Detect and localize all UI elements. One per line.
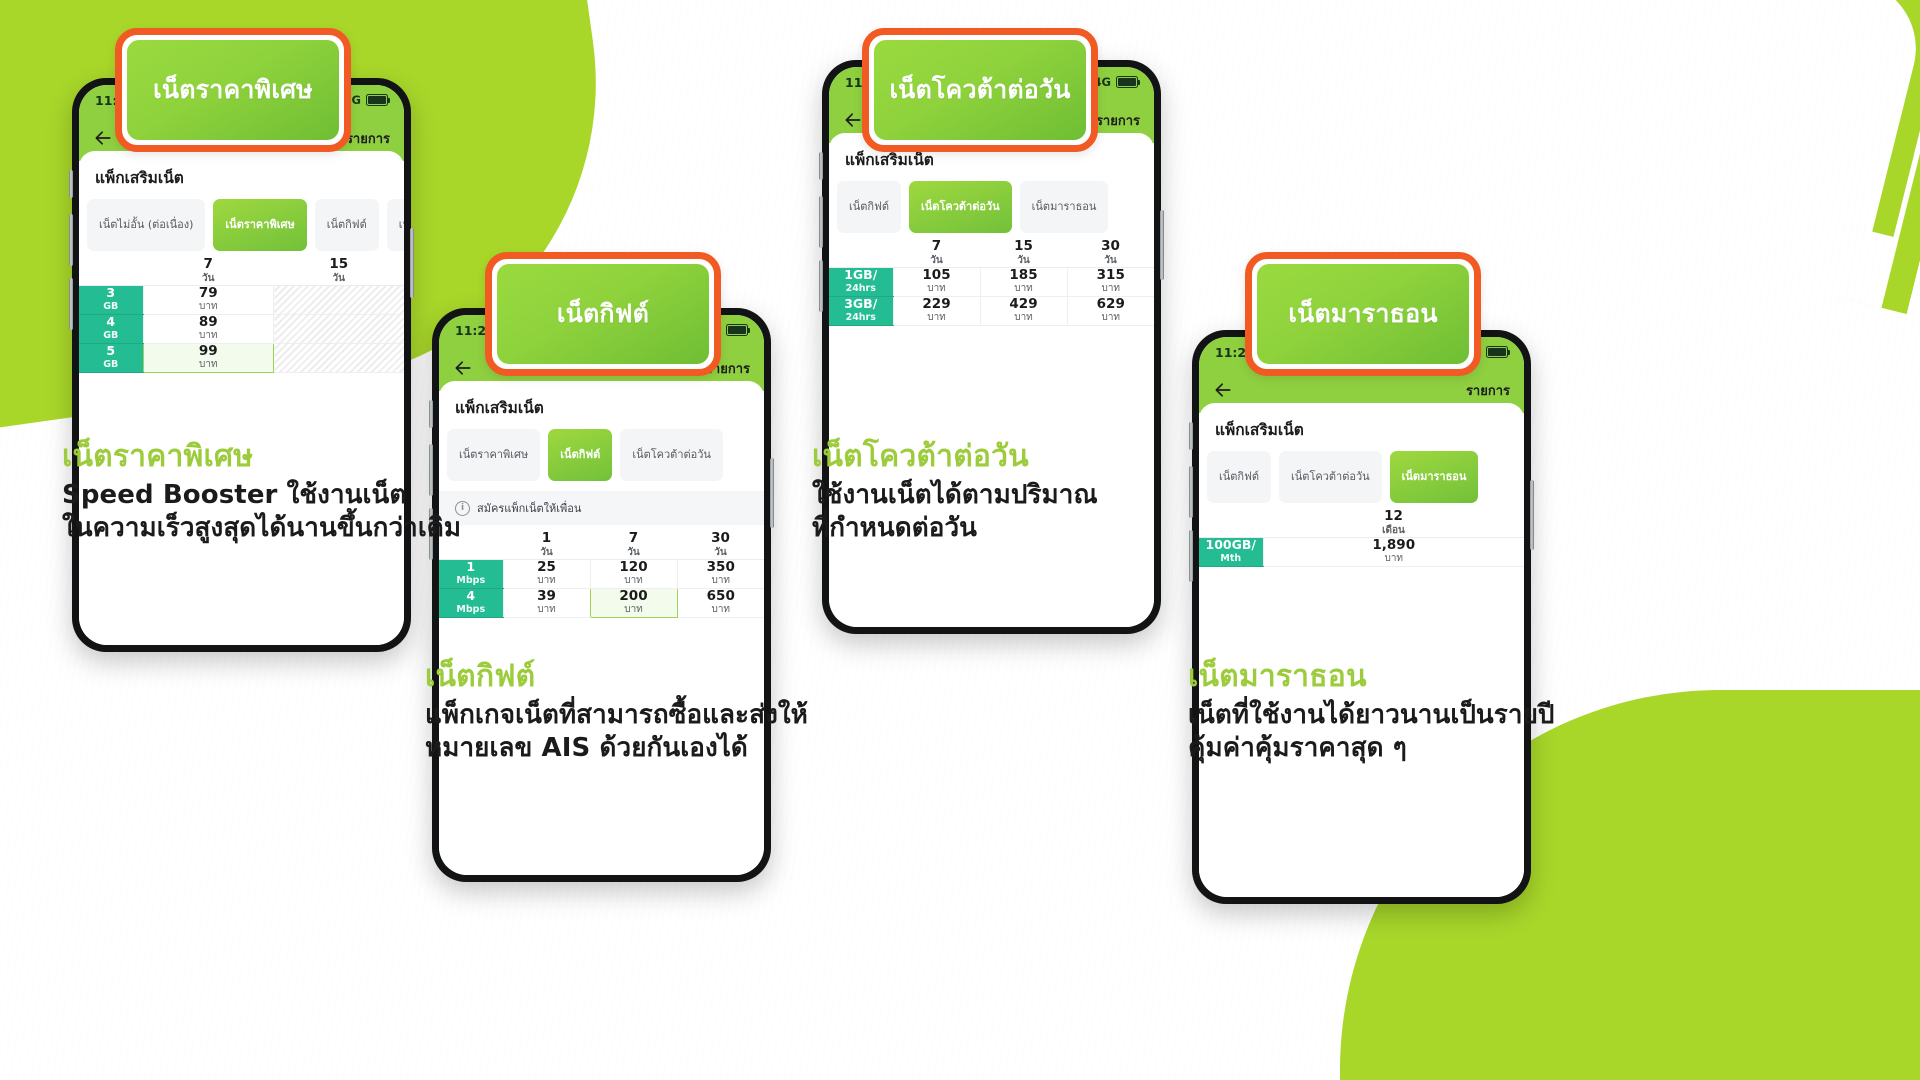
price-unit: บาท	[144, 301, 274, 314]
callout-label: เน็ตมาราธอน	[1288, 294, 1437, 334]
duration-value: 7	[590, 531, 677, 547]
table-row: 4GB89บาท	[79, 314, 404, 343]
table-corner-cell	[79, 257, 143, 285]
duration-header-3: 30วัน	[677, 531, 764, 559]
tab-label: เน็ตมาราธอน	[1032, 200, 1097, 214]
price-unit: บาท	[1264, 553, 1525, 566]
tab-2-active[interactable]: เน็ตราคาพิเศษ	[213, 199, 306, 251]
caption-heading: เน็ตโควต้าต่อวัน	[812, 440, 1232, 475]
phone-screen: 11:214Gรายการแพ็กเสริมเน็ตเน็ตกิฟต์เน็ตโ…	[1199, 337, 1524, 897]
quota-label-cell: 5GB	[79, 343, 143, 372]
tab-1[interactable]: เน็ตไม่อั้น (ต่อเนื่อง)	[87, 199, 205, 251]
power-button[interactable]	[1530, 480, 1534, 550]
duration-value: 7	[143, 257, 274, 273]
back-arrow-icon[interactable]	[843, 110, 863, 130]
price-cell[interactable]: 650บาท	[677, 588, 764, 617]
price-value: 79	[144, 286, 274, 302]
quota-unit: GB	[79, 330, 143, 342]
price-cell[interactable]: 39บาท	[503, 588, 590, 617]
tab-label: เน็ตกิฟต์	[849, 200, 889, 214]
tab-2[interactable]: เน็ตโควต้าต่อวัน	[1279, 451, 1382, 503]
content-sheet: แพ็กเสริมเน็ตเน็ตกิฟต์เน็ตโควต้าต่อวันเน…	[1199, 403, 1524, 897]
duration-unit: วัน	[143, 273, 274, 285]
page-title: แพ็กเสริมเน็ต	[1199, 403, 1524, 451]
tab-4[interactable]: เน็ตโควต้าต่อวัน	[387, 199, 404, 251]
phone-screen: 11:24Gรายการแพ็กเสริมเน็ตเน็ตไม่อั้น (ต่…	[79, 85, 404, 645]
duration-header-1: 7วัน	[893, 239, 980, 267]
price-unit: บาท	[504, 604, 590, 617]
duration-value: 15	[980, 239, 1067, 255]
quota-label-cell: 1Mbps	[439, 559, 503, 588]
price-unit: บาท	[981, 283, 1067, 296]
duration-value: 12	[1263, 509, 1524, 525]
tab-1[interactable]: เน็ตกิฟต์	[837, 181, 901, 233]
content-sheet: แพ็กเสริมเน็ตเน็ตไม่อั้น (ต่อเนื่อง)เน็ต…	[79, 151, 404, 645]
battery-icon	[366, 94, 388, 106]
tab-2-active[interactable]: เน็ตกิฟต์	[548, 429, 612, 481]
quota-value: 5	[79, 344, 143, 358]
price-cell[interactable]: 429บาท	[980, 296, 1067, 325]
tab-label: เน็ตโควต้าต่อวัน	[399, 218, 404, 232]
battery-icon	[1486, 346, 1508, 358]
app-bar-action[interactable]: รายการ	[1466, 380, 1510, 401]
table-header-row: 7วัน15วัน30วัน	[829, 239, 1154, 267]
tab-label: เน็ตมาราธอน	[1402, 470, 1467, 484]
duration-header-2: 15วัน	[980, 239, 1067, 267]
callout-pill-body: เน็ตราคาพิเศษ	[127, 40, 339, 140]
price-value: 89	[144, 315, 274, 331]
price-unit: บาท	[678, 604, 765, 617]
quota-label-cell: 4GB	[79, 314, 143, 343]
tab-label: เน็ตกิฟต์	[327, 218, 367, 232]
tab-label: เน็ตโควต้าต่อวัน	[921, 200, 1000, 214]
tab-3[interactable]: เน็ตมาราธอน	[1020, 181, 1109, 233]
tab-3[interactable]: เน็ตกิฟต์	[315, 199, 379, 251]
price-value: 200	[591, 589, 677, 605]
table-row: 3GB/24hrs229บาท429บาท629บาท	[829, 296, 1154, 325]
price-unit: บาท	[591, 604, 677, 617]
duration-unit: วัน	[980, 255, 1067, 267]
duration-value: 1	[503, 531, 590, 547]
price-unit: บาท	[591, 575, 677, 588]
price-unit: บาท	[504, 575, 590, 588]
duration-header-1: 1วัน	[503, 531, 590, 559]
quota-unit: Mth	[1199, 553, 1263, 565]
table-row: 4Mbps39บาท200บาท650บาท	[439, 588, 764, 617]
price-value: 229	[894, 297, 980, 313]
caption-line-2: คุ้มค่าคุ้มราคาสุด ๆ	[1188, 732, 1638, 765]
price-value: 629	[1068, 297, 1155, 313]
price-value: 105	[894, 268, 980, 284]
page-title: แพ็กเสริมเน็ต	[439, 381, 764, 429]
price-cell-selected[interactable]: 99บาท	[143, 343, 274, 372]
callout-pill-body: เน็ตโควต้าต่อวัน	[874, 40, 1086, 140]
duration-unit: วัน	[1067, 255, 1154, 267]
quota-label-cell: 4Mbps	[439, 588, 503, 617]
tab-3[interactable]: เน็ตโควต้าต่อวัน	[620, 429, 723, 481]
quota-unit: 24hrs	[829, 312, 893, 324]
table-corner-cell	[829, 239, 893, 267]
caption-line-1: เน็ตที่ใช้งานได้ยาวนานเป็นรายปี	[1188, 699, 1638, 732]
quota-value: 4	[79, 315, 143, 329]
callout-label: เน็ตโควต้าต่อวัน	[889, 70, 1070, 110]
duration-value: 7	[893, 239, 980, 255]
app-bar-action[interactable]: รายการ	[346, 128, 390, 149]
price-unit: บาท	[144, 330, 274, 343]
duration-header-1: 7วัน	[143, 257, 274, 285]
price-value: 1,890	[1264, 538, 1525, 554]
price-unit: บาท	[981, 312, 1067, 325]
price-value: 99	[144, 344, 274, 360]
quota-unit: Mbps	[439, 575, 503, 587]
price-cell-unavailable	[274, 343, 405, 372]
caption-line-1: Speed Booster ใช้งานเน็ต	[62, 479, 502, 512]
quota-value: 1	[439, 560, 503, 574]
duration-unit: วัน	[590, 547, 677, 559]
table-header-row: 7วัน15วัน	[79, 257, 404, 285]
price-cell[interactable]: 315บาท	[1067, 267, 1154, 296]
table-row: 1Mbps25บาท120บาท350บาท	[439, 559, 764, 588]
price-cell-unavailable	[274, 285, 405, 314]
phone-net-marathon: 11:214Gรายการแพ็กเสริมเน็ตเน็ตกิฟต์เน็ตโ…	[1192, 330, 1531, 904]
price-unit: บาท	[1068, 312, 1155, 325]
caption-line-1: ใช้งานเน็ตได้ตามปริมาณ	[812, 479, 1232, 512]
back-arrow-icon[interactable]	[93, 128, 113, 148]
callout-pill-body: เน็ตกิฟต์	[497, 264, 709, 364]
phone-screen: 11:204Gรายการแพ็กเสริมเน็ตเน็ตราคาพิเศษเ…	[439, 315, 764, 875]
power-button[interactable]	[1160, 210, 1164, 280]
power-button[interactable]	[770, 458, 774, 528]
caption-line-2: หมายเลข AIS ด้วยกันเองได้	[425, 732, 875, 765]
callout-pill-body: เน็ตมาราธอน	[1257, 264, 1469, 364]
price-value: 429	[981, 297, 1067, 313]
category-tab-strip[interactable]: เน็ตกิฟต์เน็ตโควต้าต่อวันเน็ตมาราธอน	[829, 181, 1154, 233]
plan-price-table: 7วัน15วัน30วัน1GB/24hrs105บาท185บาท315บา…	[829, 239, 1154, 326]
price-unit: บาท	[678, 575, 765, 588]
callout-net-special-price: เน็ตราคาพิเศษ	[115, 28, 351, 152]
duration-unit: วัน	[503, 547, 590, 559]
quota-value: 1GB/	[829, 268, 893, 282]
quota-value: 4	[439, 589, 503, 603]
callout-net-marathon: เน็ตมาราธอน	[1245, 252, 1481, 376]
tab-label: เน็ตไม่อั้น (ต่อเนื่อง)	[99, 218, 193, 232]
price-value: 350	[678, 560, 765, 576]
quota-value: 3	[79, 286, 143, 300]
price-unit: บาท	[894, 283, 980, 296]
duration-header-2: 7วัน	[590, 531, 677, 559]
quota-label-cell: 3GB	[79, 285, 143, 314]
price-unit: บาท	[1068, 283, 1155, 296]
price-value: 315	[1068, 268, 1155, 284]
phone-net-special-price: 11:24Gรายการแพ็กเสริมเน็ตเน็ตไม่อั้น (ต่…	[72, 78, 411, 652]
plan-price-table: 7วัน15วัน3GB79บาท4GB89บาท5GB99บาท	[79, 257, 404, 373]
duration-header-3: 30วัน	[1067, 239, 1154, 267]
caption-net-daily-quota: เน็ตโควต้าต่อวัน ใช้งานเน็ตได้ตามปริมาณ …	[812, 440, 1232, 545]
quota-value: 3GB/	[829, 297, 893, 311]
tab-label: เน็ตโควต้าต่อวัน	[632, 448, 711, 462]
price-cell[interactable]: 79บาท	[143, 285, 274, 314]
volume-down-button[interactable]	[69, 278, 73, 330]
caption-net-marathon: เน็ตมาราธอน เน็ตที่ใช้งานได้ยาวนานเป็นรา…	[1188, 660, 1638, 765]
price-cell-unavailable	[274, 314, 405, 343]
tab-label: เน็ตโควต้าต่อวัน	[1291, 470, 1370, 484]
battery-icon	[726, 324, 748, 336]
price-value: 185	[981, 268, 1067, 284]
price-value: 39	[504, 589, 590, 605]
duration-header-1: 12เดือน	[1263, 509, 1524, 537]
table-row: 3GB79บาท	[79, 285, 404, 314]
callout-label: เน็ตกิฟต์	[557, 294, 649, 334]
content-sheet: แพ็กเสริมเน็ตเน็ตกิฟต์เน็ตโควต้าต่อวันเน…	[829, 133, 1154, 627]
price-cell[interactable]: 105บาท	[893, 267, 980, 296]
caption-net-gift: เน็ตกิฟต์ แพ็กเกจเน็ตที่สามารถซื้อและส่ง…	[425, 660, 875, 765]
price-cell[interactable]: 629บาท	[1067, 296, 1154, 325]
caption-heading: เน็ตราคาพิเศษ	[62, 440, 502, 475]
quota-label-cell: 1GB/24hrs	[829, 267, 893, 296]
price-value: 650	[678, 589, 765, 605]
tab-3-active[interactable]: เน็ตมาราธอน	[1390, 451, 1479, 503]
table-header-row: 12เดือน	[1199, 509, 1524, 537]
price-cell[interactable]: 89บาท	[143, 314, 274, 343]
table-row: 100GB/Mth1,890บาท	[1199, 537, 1524, 566]
price-value: 120	[591, 560, 677, 576]
caption-line-1: แพ็กเกจเน็ตที่สามารถซื้อและส่งให้	[425, 699, 875, 732]
duration-header-2: 15วัน	[274, 257, 405, 285]
callout-label: เน็ตราคาพิเศษ	[153, 70, 313, 110]
app-bar-action[interactable]: รายการ	[1096, 110, 1140, 131]
plan-price-table: 12เดือน100GB/Mth1,890บาท	[1199, 509, 1524, 567]
price-cell[interactable]: 185บาท	[980, 267, 1067, 296]
callout-net-gift: เน็ตกิฟต์	[485, 252, 721, 376]
quota-unit: Mbps	[439, 604, 503, 616]
quota-label-cell: 3GB/24hrs	[829, 296, 893, 325]
power-button[interactable]	[410, 228, 414, 298]
duration-unit: เดือน	[1263, 525, 1524, 537]
quota-unit: GB	[79, 301, 143, 313]
page-title: แพ็กเสริมเน็ต	[79, 151, 404, 199]
table-row: 1GB/24hrs105บาท185บาท315บาท	[829, 267, 1154, 296]
category-tab-strip[interactable]: เน็ตกิฟต์เน็ตโควต้าต่อวันเน็ตมาราธอน	[1199, 451, 1524, 503]
caption-line-2: ในความเร็วสูงสุดได้นานขึ้นกว่าเดิม	[62, 512, 502, 545]
price-cell[interactable]: 350บาท	[677, 559, 764, 588]
duration-value: 30	[677, 531, 764, 547]
price-value: 25	[504, 560, 590, 576]
price-cell[interactable]: 229บาท	[893, 296, 980, 325]
duration-unit: วัน	[274, 273, 405, 285]
price-cell-selected[interactable]: 200บาท	[590, 588, 677, 617]
tab-label: เน็ตกิฟต์	[560, 448, 600, 462]
back-arrow-icon[interactable]	[1213, 380, 1233, 400]
duration-value: 30	[1067, 239, 1154, 255]
phone-net-gift: 11:204Gรายการแพ็กเสริมเน็ตเน็ตราคาพิเศษเ…	[432, 308, 771, 882]
callout-net-daily-quota: เน็ตโควต้าต่อวัน	[862, 28, 1098, 152]
quota-unit: 24hrs	[829, 283, 893, 295]
category-tab-strip[interactable]: เน็ตไม่อั้น (ต่อเนื่อง)เน็ตราคาพิเศษเน็ต…	[79, 199, 404, 251]
caption-heading: เน็ตมาราธอน	[1188, 660, 1638, 695]
tab-2-active[interactable]: เน็ตโควต้าต่อวัน	[909, 181, 1012, 233]
price-cell[interactable]: 1,890บาท	[1263, 537, 1524, 566]
duration-value: 15	[274, 257, 405, 273]
battery-icon	[1116, 76, 1138, 88]
caption-line-2: ที่กำหนดต่อวัน	[812, 512, 1232, 545]
price-unit: บาท	[144, 359, 274, 372]
price-cell[interactable]: 25บาท	[503, 559, 590, 588]
volume-down-button[interactable]	[819, 260, 823, 312]
price-unit: บาท	[894, 312, 980, 325]
quota-unit: GB	[79, 359, 143, 371]
duration-unit: วัน	[677, 547, 764, 559]
back-arrow-icon[interactable]	[453, 358, 473, 378]
table-row: 5GB99บาท	[79, 343, 404, 372]
price-cell[interactable]: 120บาท	[590, 559, 677, 588]
tab-label: เน็ตราคาพิเศษ	[225, 218, 294, 232]
caption-net-special-price: เน็ตราคาพิเศษ Speed Booster ใช้งานเน็ต ใ…	[62, 440, 502, 545]
caption-heading: เน็ตกิฟต์	[425, 660, 875, 695]
duration-unit: วัน	[893, 255, 980, 267]
